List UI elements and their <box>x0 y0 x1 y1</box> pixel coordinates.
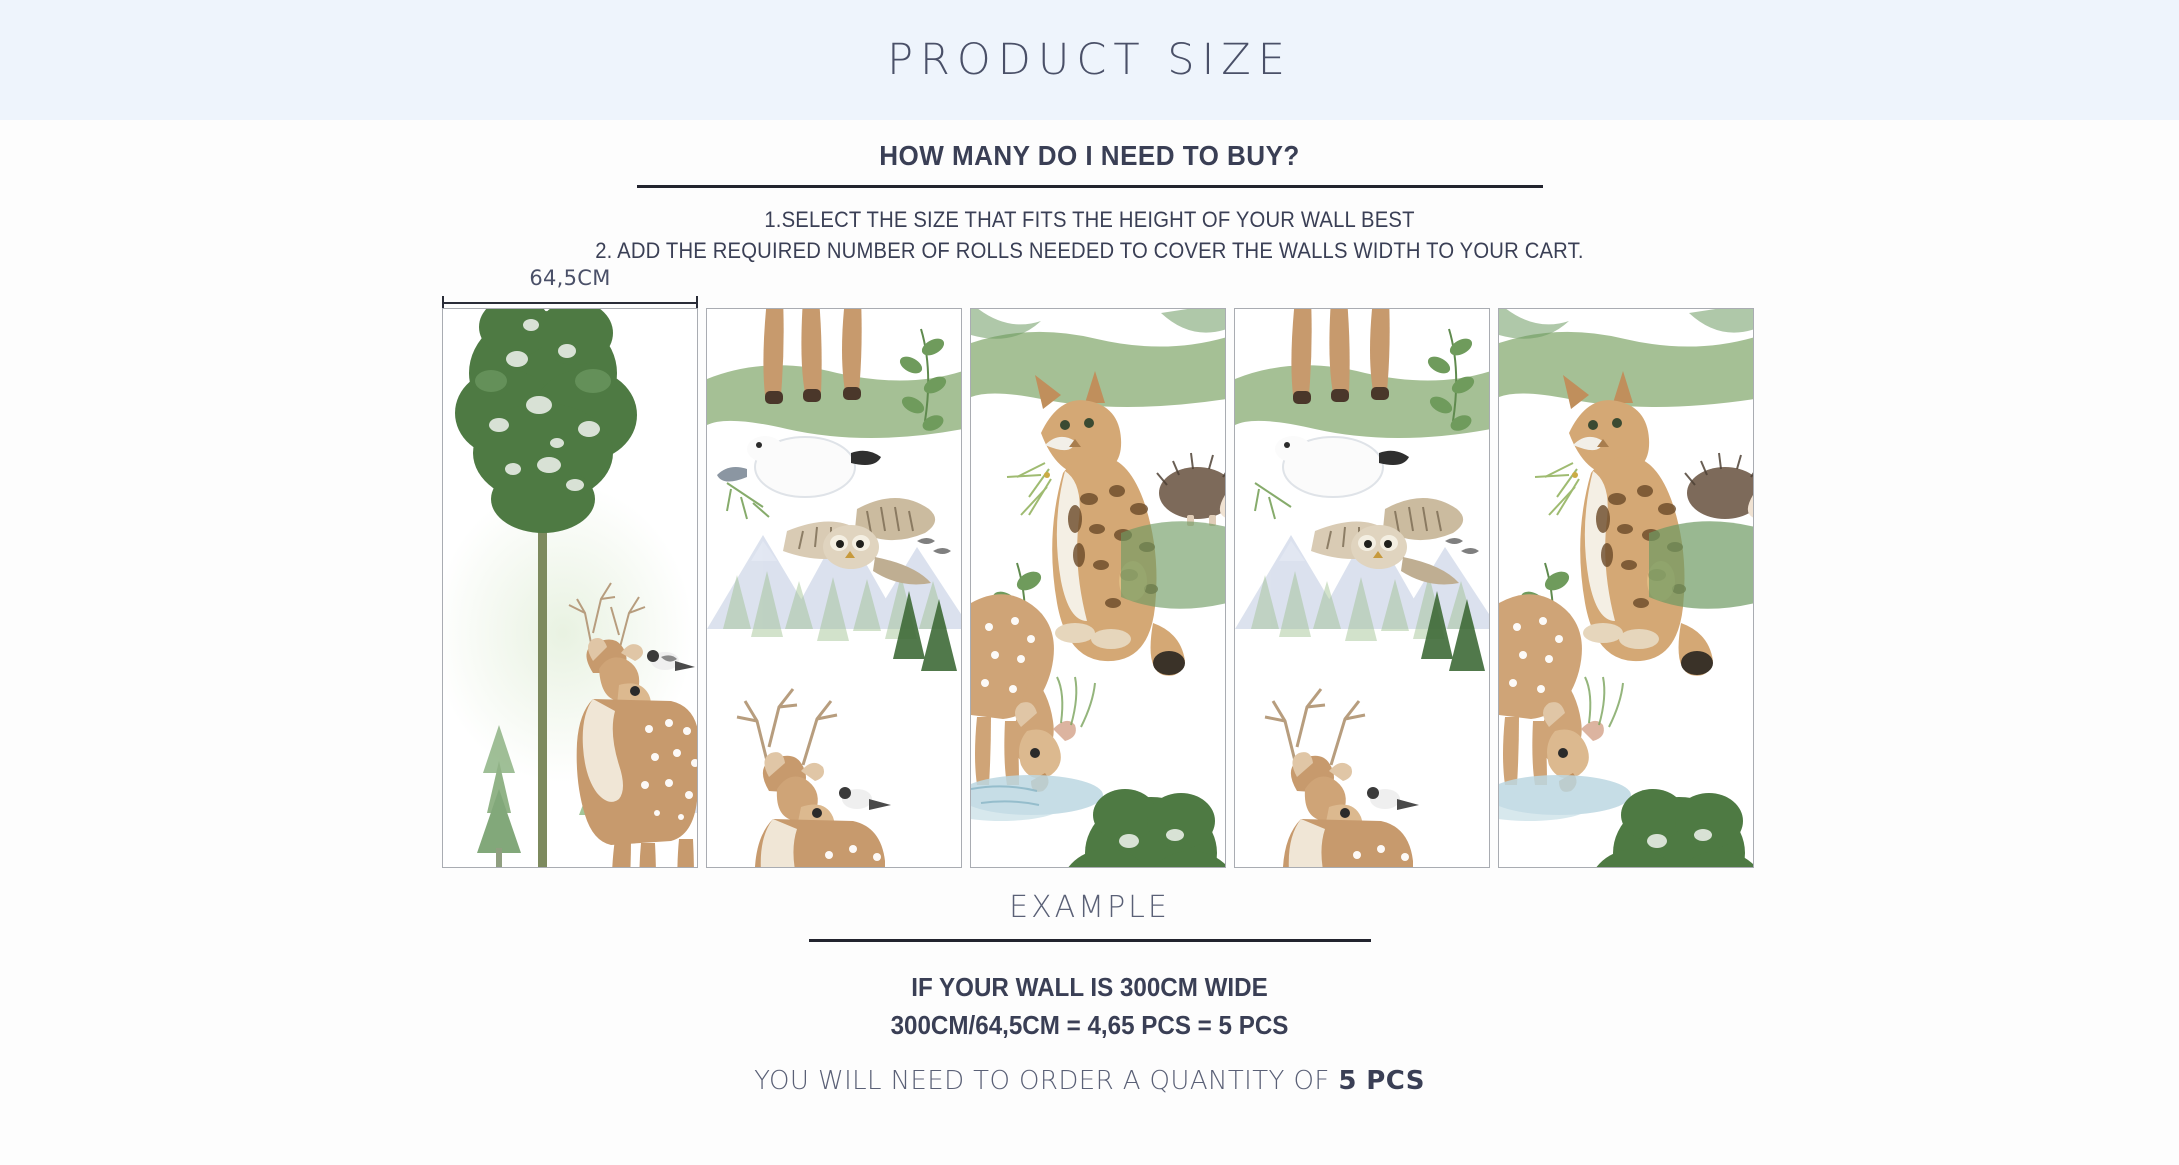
example-heading: EXAMPLE <box>0 890 2179 925</box>
example-formula: 300CM/64,5CM = 4,65 PCS = 5 PCS <box>76 1006 2102 1044</box>
wallpaper-artwork <box>971 308 1226 868</box>
instruction-step-2: 2. ADD THE REQUIRED NUMBER OF ROLLS NEED… <box>87 235 2092 266</box>
page-title: PRODUCT SIZE <box>887 35 1292 85</box>
dimension-label: 64,5CM <box>442 266 698 290</box>
example-wall-width: IF YOUR WALL IS 300CM WIDE <box>76 968 2102 1006</box>
example-conclusion: YOU WILL NEED TO ORDER A QUANTITY OF 5 P… <box>0 1066 2179 1096</box>
wallpaper-artwork <box>707 308 962 868</box>
example-conclusion-prefix: YOU WILL NEED TO ORDER A QUANTITY OF <box>754 1066 1338 1096</box>
example-conclusion-quantity: 5 PCS <box>1338 1066 1425 1096</box>
intro-divider <box>637 185 1543 188</box>
wallpaper-artwork <box>443 308 698 868</box>
wallpaper-panel-5[interactable] <box>1498 308 1754 868</box>
wallpaper-panel-2[interactable] <box>706 308 962 868</box>
wallpaper-panel-4[interactable] <box>1234 308 1490 868</box>
dimension-indicator: 64,5CM <box>442 266 698 310</box>
wallpaper-panel-3[interactable] <box>970 308 1226 868</box>
instruction-step-1: 1.SELECT THE SIZE THAT FITS THE HEIGHT O… <box>87 204 2092 235</box>
measure-line <box>442 302 698 304</box>
intro-heading: HOW MANY DO I NEED TO BUY? <box>76 140 2102 172</box>
instruction-list: 1.SELECT THE SIZE THAT FITS THE HEIGHT O… <box>0 204 2179 266</box>
page-header: PRODUCT SIZE <box>0 0 2179 120</box>
wallpaper-panel-1[interactable] <box>442 308 698 868</box>
example-divider <box>809 939 1371 942</box>
example-calculation: IF YOUR WALL IS 300CM WIDE 300CM/64,5CM … <box>0 968 2179 1044</box>
wallpaper-artwork <box>1235 308 1490 868</box>
wallpaper-panel-row <box>442 308 1754 868</box>
example-section: EXAMPLE IF YOUR WALL IS 300CM WIDE 300CM… <box>0 890 2179 1096</box>
wallpaper-artwork <box>1499 308 1754 868</box>
intro-section: HOW MANY DO I NEED TO BUY? 1.SELECT THE … <box>0 120 2179 266</box>
